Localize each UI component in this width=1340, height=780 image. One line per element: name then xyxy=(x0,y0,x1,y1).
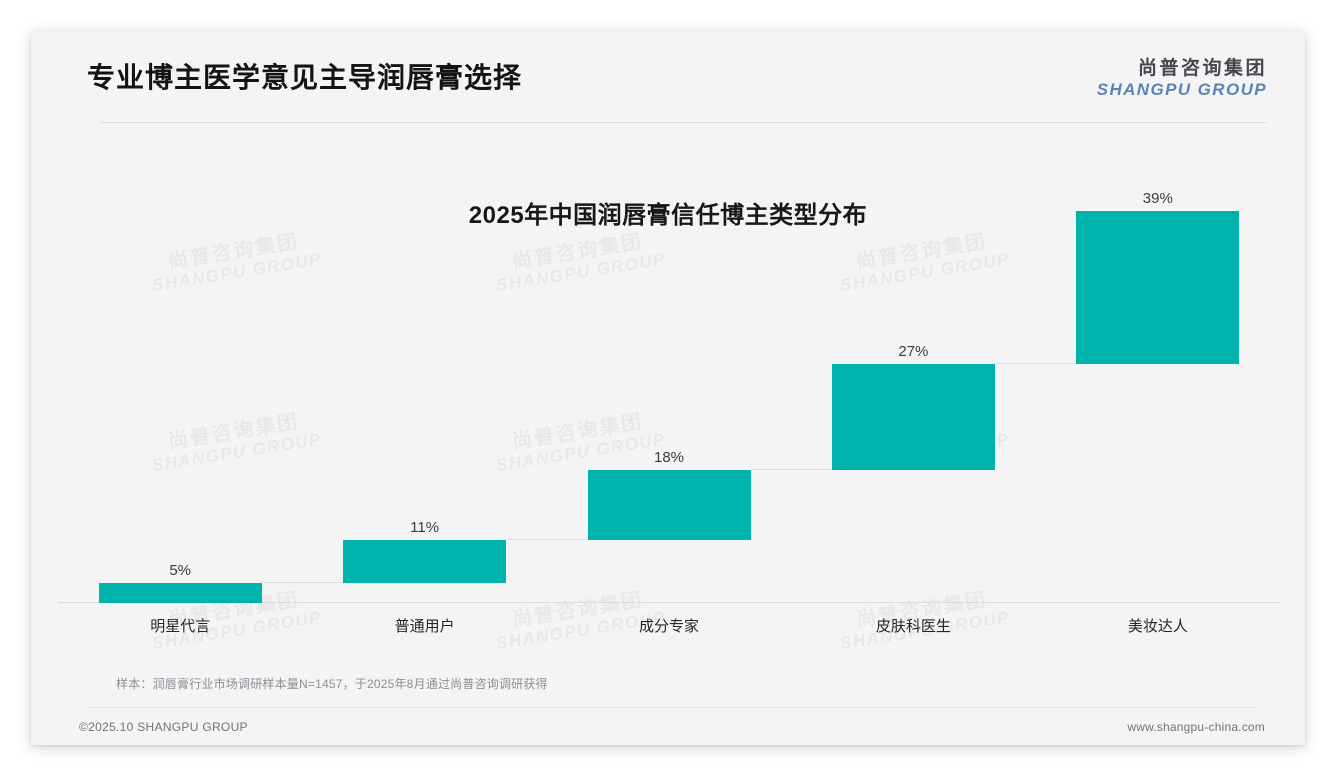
slide-body: 尚普咨询集团 SHANGPU GROUP 尚普咨询集团 SHANGPU GROU… xyxy=(31,123,1305,712)
slide-header: 专业博主医学意见主导润唇膏选择 尚普咨询集团 SHANGPU GROUP xyxy=(31,31,1305,123)
chart-connector-line xyxy=(262,582,343,583)
footnote-text: 样本：润唇膏行业市场调研样本量N=1457，于2025年8月通过尚普咨询调研获得 xyxy=(116,675,548,692)
slide-footer: ©2025.10 SHANGPU GROUP www.shangpu-china… xyxy=(31,712,1305,745)
chart-category-label: 美妆达人 xyxy=(1036,615,1280,641)
chart-category-label: 普通用户 xyxy=(302,615,546,641)
chart-category-label: 皮肤科医生 xyxy=(791,615,1035,641)
chart-category-label: 明星代言 xyxy=(58,615,302,641)
chart-bar xyxy=(1076,211,1239,364)
chart-connector-line xyxy=(751,469,832,470)
chart-bar-value-label: 18% xyxy=(588,449,751,466)
chart-bar xyxy=(99,583,262,603)
chart-category-label: 成分专家 xyxy=(547,615,791,641)
page-title: 专业博主医学意见主导润唇膏选择 xyxy=(87,56,522,96)
chart-bar-value-label: 39% xyxy=(1076,190,1239,207)
chart-bar xyxy=(343,540,506,583)
slide-card: 专业博主医学意见主导润唇膏选择 尚普咨询集团 SHANGPU GROUP 尚普咨… xyxy=(31,31,1305,745)
chart-connector-line xyxy=(995,363,1076,364)
chart-bar xyxy=(588,470,751,541)
chart-category-axis: 明星代言普通用户成分专家皮肤科医生美妆达人 xyxy=(58,615,1280,641)
copyright-text: ©2025.10 SHANGPU GROUP xyxy=(79,720,248,734)
footnote-divider xyxy=(87,707,1257,708)
brand-logo: 尚普咨询集团 SHANGPU GROUP xyxy=(1097,58,1267,100)
chart-bar xyxy=(832,364,995,470)
chart-connector-line xyxy=(506,539,587,540)
chart-bar-value-label: 5% xyxy=(99,562,262,579)
chart-bar-value-label: 27% xyxy=(832,343,995,360)
chart-plot-area: 5%11%18%27%39% xyxy=(58,211,1280,603)
brand-logo-cn: 尚普咨询集团 xyxy=(1097,58,1267,80)
chart-bar-value-label: 11% xyxy=(343,519,506,536)
website-link[interactable]: www.shangpu-china.com xyxy=(1127,720,1265,734)
screenshot-canvas: 专业博主医学意见主导润唇膏选择 尚普咨询集团 SHANGPU GROUP 尚普咨… xyxy=(0,0,1340,780)
brand-logo-en: SHANGPU GROUP xyxy=(1097,80,1267,100)
